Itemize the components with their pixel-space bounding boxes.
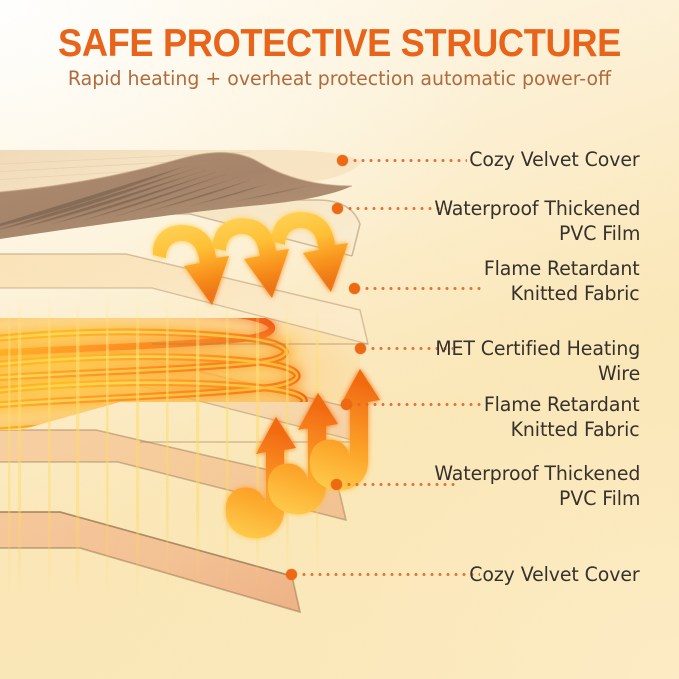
- page-title: SAFE PROTECTIVE STRUCTURE: [24, 22, 655, 66]
- callout-label-met-certified-heating-wire: MET Certified Heating Wire: [435, 336, 640, 386]
- callout-label-waterproof-pvc-film-bottom: Waterproof Thickened PVC Film: [434, 461, 640, 511]
- callout-label-knitted-fabric-bottom: Flame Retardant Knitted Fabric: [484, 392, 640, 442]
- infographic-canvas: SAFE PROTECTIVE STRUCTURE Rapid heating …: [0, 0, 679, 679]
- callout-label-cozy-velvet-cover-top: Cozy Velvet Cover: [470, 147, 640, 172]
- callout-label-cozy-velvet-cover-bottom: Cozy Velvet Cover: [470, 562, 640, 587]
- callout-label-knitted-fabric-top: Flame Retardant Knitted Fabric: [484, 256, 640, 306]
- page-subtitle: Rapid heating + overheat protection auto…: [10, 66, 669, 92]
- callout-label-waterproof-pvc-film-top: Waterproof Thickened PVC Film: [434, 196, 640, 246]
- header: SAFE PROTECTIVE STRUCTURE Rapid heating …: [0, 22, 679, 92]
